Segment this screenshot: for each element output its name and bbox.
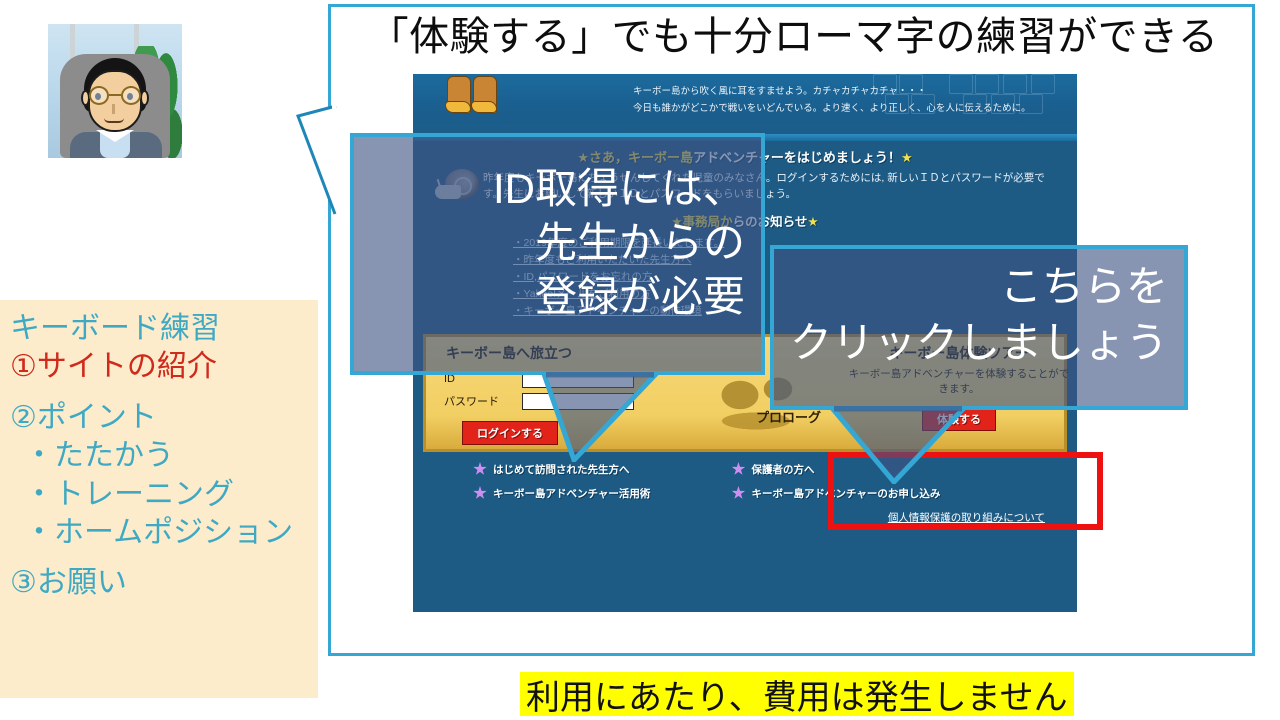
page-title: 「体験する」でも十分ローマ字の練習ができる [336,5,1251,61]
sidebar-item-training[interactable]: ・トレーニング [10,476,312,514]
bottom-banner: 利用にあたり、費用は発生しません [520,672,1074,716]
sidebar-heading: キーボード練習 [10,310,312,348]
callout2-tail [828,406,968,484]
panel-callout-tail [240,104,338,216]
banner-line-1: キーボー島から吹く風に耳をすませよう。カチャカチャカチャ・・・ [633,84,1031,101]
click-here-callout: こちらを クリックしましょう [770,245,1188,410]
bottom-banner-text: 利用にあたり、費用は発生しません [526,670,1068,719]
sidebar-item-home-position[interactable]: ・ホームポジション [10,514,312,552]
password-label: パスワード [444,393,522,409]
site-banner: キーボー島から吹く風に耳をすませよう。カチャカチャカチャ・・・ 今日も誰かがどこ… [413,74,1077,134]
sidebar-item-request[interactable]: ③お願い [10,564,312,602]
callout1-line-1: ID取得には、 [354,165,761,212]
footer-link-new-teachers[interactable]: はじめて訪問された先生方へ [473,462,727,477]
footer-links-left: はじめて訪問された先生方へ キーボー島アドベンチャー活用術 [427,462,727,510]
callout2-line-1: こちらを [774,263,1184,310]
presenter-avatar [48,24,182,158]
callout1-line-3: 登録が必要 [354,273,761,320]
star-icon [473,486,487,500]
glasses-icon [84,86,146,106]
nose-shape [112,104,115,114]
sidebar-item-points[interactable]: ②ポイント [10,399,312,437]
callout1-tail [540,372,660,462]
callout2-line-2: クリックしましょう [774,319,1184,366]
id-registration-callout: ID取得には、 先生からの 登録が必要 [350,133,765,375]
sidebar-item-battle[interactable]: ・たたかう [10,437,312,475]
callout1-line-2: 先生からの [354,219,761,266]
star-icon [473,462,487,476]
banner-line-2: 今日も誰かがどこかで戦いをいどんでいる。より速く、より正しく、心を人に伝えるため… [633,101,1031,118]
mouth-shape [104,118,124,123]
star-icon [731,486,745,500]
site-banner-text: キーボー島から吹く風に耳をすませよう。カチャカチャカチャ・・・ 今日も誰かがどこ… [633,84,1031,117]
boots-icon [445,74,501,116]
agenda-sidebar: キーボード練習 ①サイトの紹介 ②ポイント ・たたかう ・トレーニング ・ホーム… [0,300,318,698]
sidebar-item-site-intro[interactable]: ①サイトの紹介 [10,348,312,386]
star-icon [731,462,745,476]
footer-link-usage-tips[interactable]: キーボー島アドベンチャー活用術 [473,486,727,501]
